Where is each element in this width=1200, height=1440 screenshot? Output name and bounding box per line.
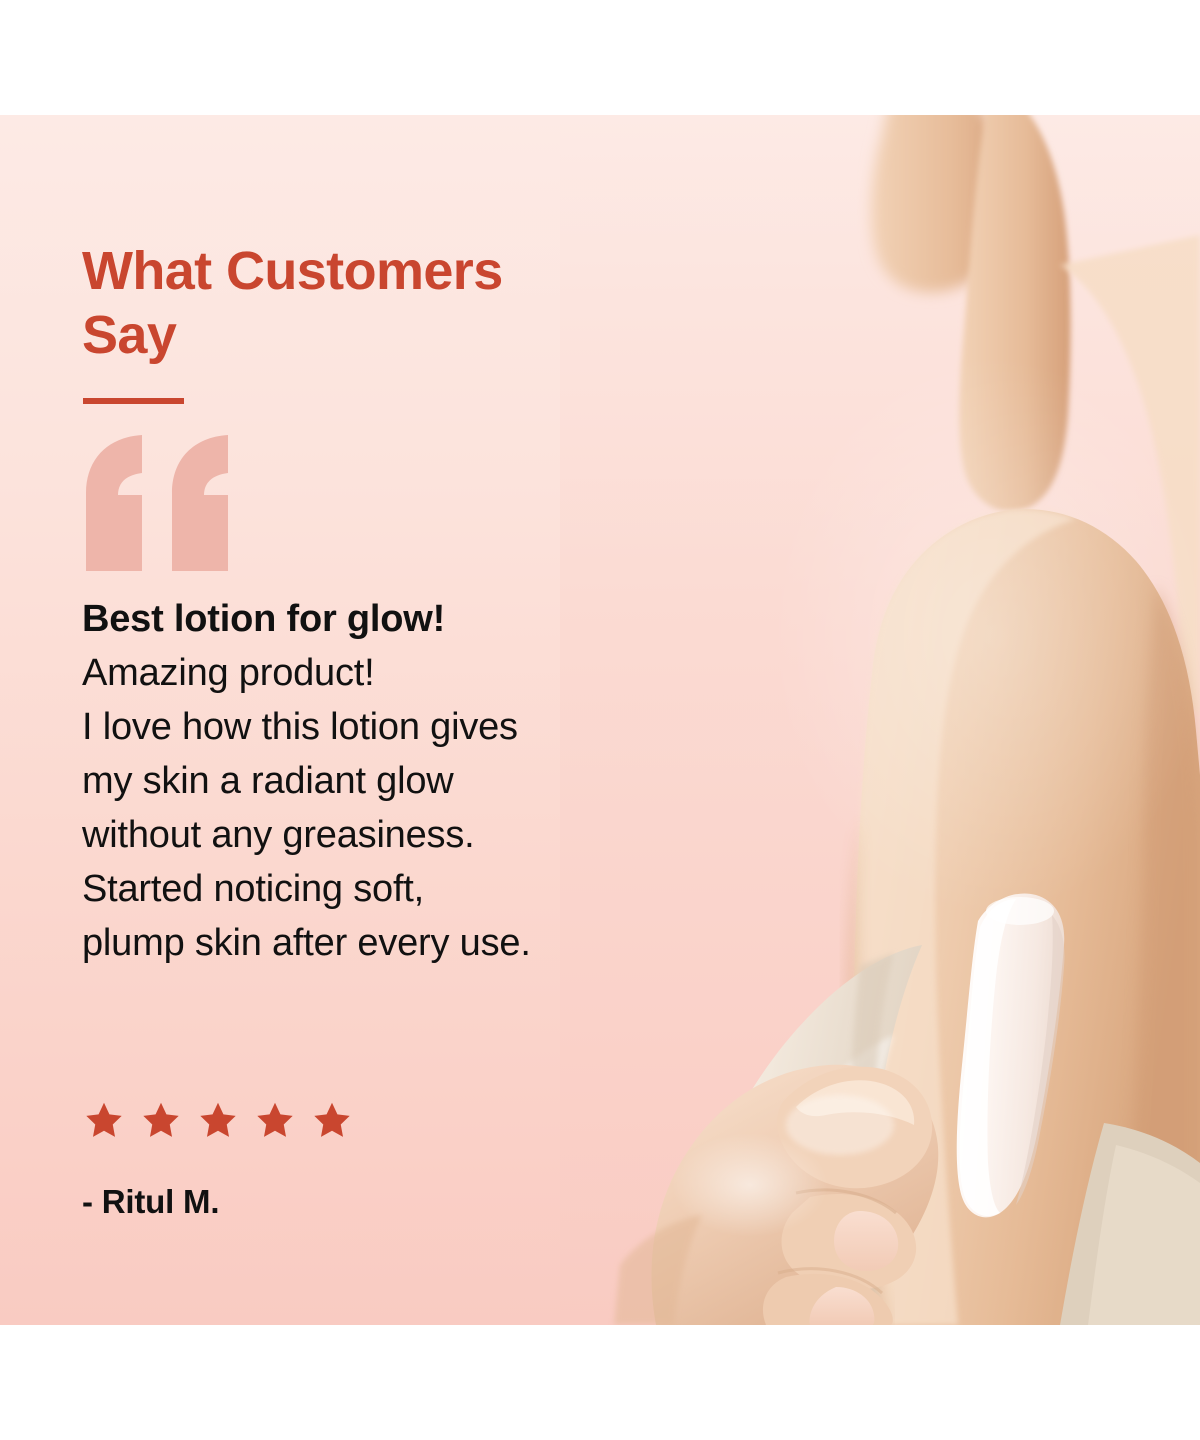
- testimonial-headline: Best lotion for glow!: [82, 592, 682, 646]
- star-icon-3: [196, 1100, 240, 1142]
- testimonial-card: What Customers Say Best lotion for glow!…: [0, 0, 1200, 1440]
- testimonial-line-2: my skin a radiant glow: [82, 754, 682, 808]
- quote-mark-icon: [78, 433, 258, 573]
- page-title: What Customers Say: [82, 240, 642, 367]
- star-icon-4: [253, 1100, 297, 1142]
- testimonial-line-0: Amazing product!: [82, 646, 682, 700]
- testimonial-line-1: I love how this lotion gives: [82, 700, 682, 754]
- testimonial-content: What Customers Say Best lotion for glow!…: [82, 115, 682, 1325]
- heading-underline: [83, 398, 184, 404]
- testimonial-text: Best lotion for glow! Amazing product! I…: [82, 592, 682, 970]
- heading-line-1: What Customers: [82, 241, 503, 301]
- testimonial-line-4: Started noticing soft,: [82, 862, 682, 916]
- testimonial-line-3: without any greasiness.: [82, 808, 682, 862]
- quote-glyph: [78, 433, 258, 573]
- star-icon-5: [310, 1100, 354, 1142]
- testimonial-line-5: plump skin after every use.: [82, 916, 682, 970]
- testimonial-panel: What Customers Say Best lotion for glow!…: [0, 115, 1200, 1325]
- star-icon-2: [139, 1100, 183, 1142]
- rating-stars: [82, 1100, 354, 1142]
- star-icon-1: [82, 1100, 126, 1142]
- heading-line-2: Say: [82, 305, 176, 365]
- reviewer-name: - Ritul M.: [82, 1183, 219, 1221]
